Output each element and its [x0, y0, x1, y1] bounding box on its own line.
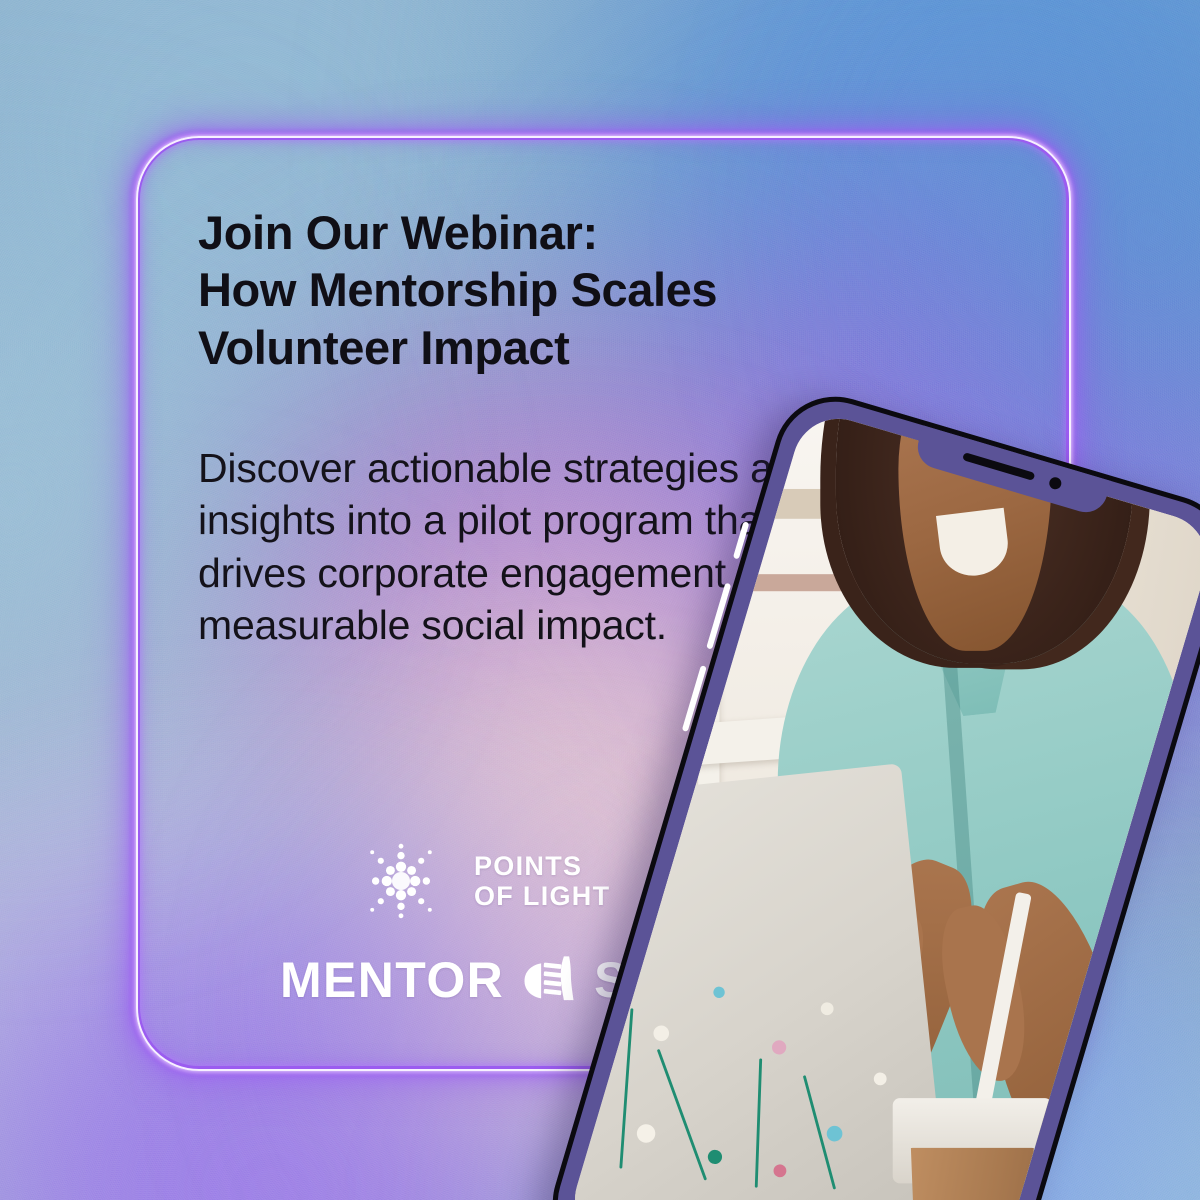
page-title: Join Our Webinar: How Mentorship Scales …: [198, 204, 898, 376]
points-of-light-wordmark: POINTS OF LIGHT: [474, 851, 610, 912]
mentor-spaces-emblem-icon: [521, 952, 577, 1008]
poster-canvas: Join Our Webinar: How Mentorship Scales …: [0, 0, 1200, 1200]
points-of-light-logo: POINTS OF LIGHT: [358, 838, 610, 924]
floral-decal: [636, 1124, 656, 1144]
mentor-spaces-word-left: MENTOR: [280, 955, 504, 1005]
floral-decal: [586, 1087, 598, 1099]
floral-decal: [820, 1003, 834, 1017]
points-of-light-starburst-icon: [358, 838, 444, 924]
floral-decal: [656, 1049, 706, 1181]
earpiece-speaker-icon: [962, 452, 1035, 481]
floral-decal: [754, 1059, 761, 1188]
floral-decal: [772, 1164, 786, 1178]
floral-decal: [619, 1009, 633, 1170]
floral-decal: [771, 1040, 787, 1056]
floral-decal: [712, 987, 724, 999]
front-camera-icon: [1048, 476, 1063, 491]
floral-decal: [652, 1025, 669, 1042]
iced-coffee-cup: [906, 1147, 1040, 1200]
floral-decal: [707, 1149, 723, 1165]
floral-decal: [873, 1072, 887, 1086]
floral-decal: [825, 1126, 842, 1143]
